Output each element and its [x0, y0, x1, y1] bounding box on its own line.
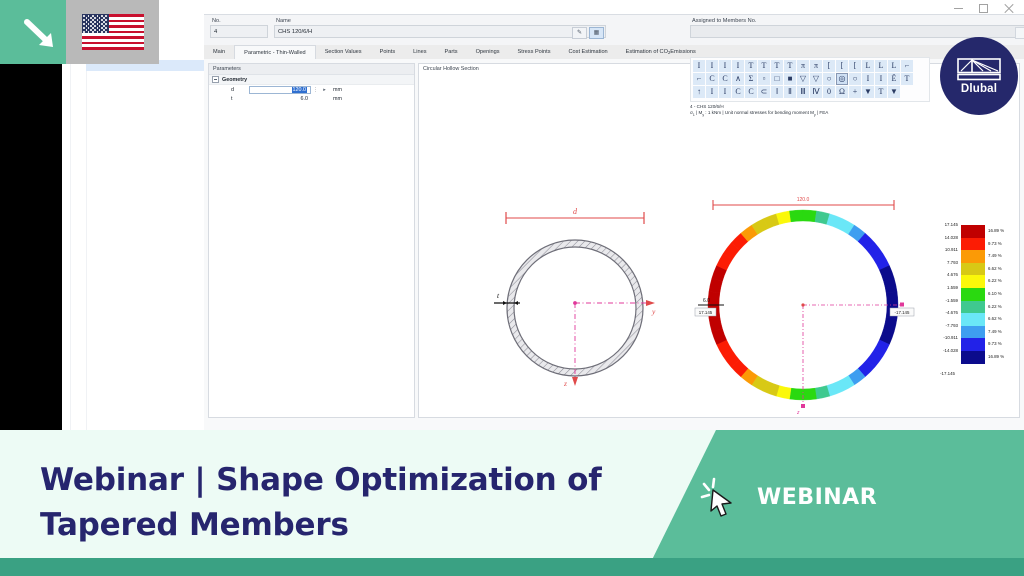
section-icon-circle-small[interactable]: ○ [849, 73, 861, 85]
section-icon-t-5[interactable]: T [901, 73, 913, 85]
tab-main[interactable]: Main [204, 45, 234, 59]
section-icon-rect-solid[interactable]: ■ [784, 73, 796, 85]
legend-value: 1.559 [924, 285, 961, 290]
flag-star [97, 27, 99, 29]
section-icon-c-4[interactable]: C [745, 86, 757, 98]
parameter-key-t: t [209, 96, 249, 102]
legend-swatch [961, 326, 985, 339]
section-name-label: Name [274, 18, 606, 25]
flag-star [105, 23, 107, 25]
left-black-bar [0, 64, 62, 434]
legend-percent: 16.89 % [988, 228, 1004, 233]
section-type-row-3: ↑ I I C C ⊂ Ⅰ Ⅱ Ⅲ Ⅳ 0 Ω + ▼ T ▼ [693, 86, 927, 98]
language-flag-tile[interactable] [66, 0, 159, 64]
section-name-value: CHS 120/6/H [278, 29, 312, 35]
stress-ring-segment [803, 388, 817, 400]
flag-star [92, 31, 94, 33]
dialog-header: No. 4 Name CHS 120/6/H ✎ ▦ Assigned to M… [204, 15, 1024, 45]
section-icon-z-2[interactable]: ⌐ [693, 73, 705, 85]
legend-value: 10.911 [924, 247, 961, 252]
section-icon-pi-2[interactable]: π [810, 60, 822, 72]
stress-ring-segment [789, 210, 803, 222]
section-icon-angle-3[interactable]: L [888, 60, 900, 72]
section-icon-t-2[interactable]: T [758, 60, 770, 72]
section-icon-angle-1[interactable]: L [862, 60, 874, 72]
parameter-row-t[interactable]: t 6.0 mm [209, 94, 414, 103]
tab-points[interactable]: Points [371, 45, 405, 59]
navigator-divider-1 [70, 16, 71, 434]
legend-value: -4.676 [924, 310, 961, 315]
flag-star [83, 23, 85, 25]
flag-star [86, 29, 88, 31]
parameter-unit-t: mm [329, 96, 342, 102]
flag-star [83, 27, 85, 29]
navigator-divider-2 [86, 16, 87, 434]
parameter-key-d: d [209, 87, 249, 93]
navigator-panel [62, 16, 205, 434]
legend-value: -1.559 [924, 298, 961, 303]
diagram-thickness-label: 6.0 [703, 298, 710, 304]
flag-star [86, 21, 88, 23]
section-icon-c-1[interactable]: C [706, 73, 718, 85]
parameter-value-d-text: 120.0 [292, 87, 308, 93]
banner-title: Webinar | Shape Optimization of Tapered … [40, 458, 640, 548]
tab-stress-points[interactable]: Stress Points [509, 45, 560, 59]
banner-title-line2: Tapered Members [40, 503, 640, 548]
diagram-max-stress-label: 17.145 [699, 310, 713, 315]
section-icon-trapezoid-2[interactable]: ▽ [810, 73, 822, 85]
stress-ring-segment [789, 388, 803, 400]
flag-stripe [82, 42, 144, 45]
section-icon-i-1[interactable]: I [693, 60, 705, 72]
section-icon-i-7[interactable]: I [706, 86, 718, 98]
section-icon-c-3[interactable]: C [732, 86, 744, 98]
section-icon-t-4[interactable]: T [784, 60, 796, 72]
section-type-toolbar: I I I I T T T T π π [ [ [ L L L ⌐ ⌐ C [690, 57, 930, 102]
arrow-down-right-icon [22, 18, 58, 50]
flag-star [97, 15, 99, 17]
section-icon-zero[interactable]: 0 [823, 86, 835, 98]
section-icon-c-5[interactable]: ⊂ [758, 86, 770, 98]
banner-webinar-badge: WEBINAR [757, 485, 877, 510]
flag-star [105, 15, 107, 17]
section-name-group: Name CHS 120/6/H ✎ ▦ [274, 18, 606, 38]
assigned-members-group: Assigned to Members No. [690, 18, 1024, 38]
legend-percent: 9.73 % [988, 241, 1002, 246]
section-icon-ii-2[interactable]: Ⅱ [784, 86, 796, 98]
collapse-icon[interactable] [212, 76, 219, 83]
result-caption: 4 - CHS 120/6/H σ1 | My : 1 kNm | Unit n… [690, 104, 828, 118]
flag-star [83, 31, 85, 33]
dlubal-logo: Dlubal [940, 37, 1018, 115]
legend-swatch [961, 250, 985, 263]
legend-value: -14.028 [924, 348, 961, 353]
rfem-section-window: No. 4 Name CHS 120/6/H ✎ ▦ Assigned to M… [62, 0, 1024, 434]
section-icon-tee-up[interactable]: ↑ [693, 86, 705, 98]
section-icon-angle-2[interactable]: L [875, 60, 887, 72]
section-icon-c-2[interactable]: C [719, 73, 731, 85]
section-icon-i-5[interactable]: I [862, 73, 874, 85]
legend-swatch [961, 351, 985, 364]
legend-value: 17.145 [924, 222, 961, 227]
axis-label-z: z [563, 379, 567, 388]
legend-percent: 6.62 % [988, 266, 1002, 271]
section-icon-sigma[interactable]: Σ [745, 73, 757, 85]
screenshot-root: No. 4 Name CHS 120/6/H ✎ ▦ Assigned to M… [0, 0, 1024, 576]
assigned-members-label: Assigned to Members No. [690, 18, 1024, 25]
section-no-input[interactable]: 4 [210, 25, 268, 38]
flag-stripe [82, 36, 144, 39]
legend-swatch [961, 288, 985, 301]
section-icon-double-i[interactable]: Ё [888, 73, 900, 85]
legend-value: 7.793 [924, 260, 961, 265]
section-icon-i-2[interactable]: I [706, 60, 718, 72]
flag-star [88, 31, 90, 33]
diagram-min-stress-label: -17.145 [895, 310, 910, 315]
click-cursor-icon [700, 476, 742, 518]
minimize-icon[interactable] [953, 3, 964, 14]
flag-star [97, 31, 99, 33]
section-icon-t-3[interactable]: T [771, 60, 783, 72]
section-icon-i-4[interactable]: I [732, 60, 744, 72]
legend-percent: 6.22 % [988, 304, 1002, 309]
legend-value: 4.676 [924, 272, 961, 277]
result-caption-line2: σ1 | My : 1 kNm | Unit normal stresses f… [690, 110, 828, 118]
legend-value: 14.028 [924, 235, 961, 240]
legend-percent: 6.62 % [988, 316, 1002, 321]
legend-swatch [961, 238, 985, 251]
section-icon-ii-1[interactable]: Ⅰ [771, 86, 783, 98]
section-icon-channel-3[interactable]: [ [849, 60, 861, 72]
flag-star [94, 21, 96, 23]
section-icon-ii-4[interactable]: Ⅳ [810, 86, 822, 98]
tab-openings[interactable]: Openings [467, 45, 509, 59]
tab-lines[interactable]: Lines [404, 45, 435, 59]
legend-row: -14.02816.89 % [924, 351, 1024, 364]
geometry-group-row[interactable]: Geometry [209, 75, 414, 85]
section-no-label: No. [210, 18, 268, 25]
legend-percent: 9.73 % [988, 341, 1002, 346]
edit-section-button[interactable]: ✎ [572, 27, 587, 39]
section-name-input[interactable]: CHS 120/6/H ✎ ▦ [274, 25, 606, 38]
section-icon-z-1[interactable]: ⌐ [901, 60, 913, 72]
legend-value: -10.911 [924, 335, 961, 340]
flag-canton [82, 14, 109, 33]
flag-star [97, 19, 99, 21]
axis-label-y: y [651, 307, 656, 316]
stress-ring-segment [886, 291, 898, 305]
section-icon-i-6[interactable]: I [875, 73, 887, 85]
banner-title-line1: Webinar | Shape Optimization of [40, 458, 640, 503]
section-type-row-2: ⌐ C C ∧ Σ ▫ □ ■ ▽ ▽ ○ ◎ ○ I I Ё T [693, 73, 927, 85]
section-icon-dropdown-1[interactable]: ▼ [862, 86, 874, 98]
flag-star [105, 31, 107, 33]
section-library-button[interactable]: ▦ [589, 27, 604, 39]
section-icon-rect-hollow[interactable]: □ [771, 73, 783, 85]
flag-star [83, 19, 85, 21]
section-icon-circular-hollow[interactable]: ◎ [836, 73, 848, 85]
parameter-value-d[interactable]: 120.0 [249, 86, 311, 94]
dimension-label-d: d [573, 207, 578, 216]
legend-swatch [961, 263, 985, 276]
section-name-buttons: ✎ ▦ [572, 27, 604, 39]
section-icon-plus[interactable]: + [849, 86, 861, 98]
flag-star [94, 17, 96, 19]
parameter-row-d[interactable]: d 120.0 ⋮ ▸ mm [209, 85, 414, 94]
tab-cost-estimation[interactable]: Cost Estimation [560, 45, 617, 59]
tab-section-values[interactable]: Section Values [316, 45, 371, 59]
section-icon-ii-3[interactable]: Ⅲ [797, 86, 809, 98]
flag-star [86, 17, 88, 19]
legend-percent: 16.89 % [988, 354, 1004, 359]
maximize-icon[interactable] [978, 3, 989, 14]
section-icon-pi-1[interactable]: π [797, 60, 809, 72]
parameters-header: Parameters [209, 64, 414, 75]
us-flag-icon [82, 14, 144, 50]
assigned-members-picker-button[interactable] [1015, 27, 1024, 39]
tab-parametric-thin-walled[interactable]: Parametric - Thin-Walled [234, 45, 316, 60]
assigned-members-input[interactable] [690, 25, 1024, 38]
flag-star [105, 27, 107, 29]
legend-percent: 7.49 % [988, 253, 1002, 258]
section-icon-channel-2[interactable]: [ [836, 60, 848, 72]
section-type-row-1: I I I I T T T T π π [ [ [ L L L ⌐ [693, 60, 927, 72]
dlubal-logo-text: Dlubal [961, 83, 997, 95]
section-icon-circle-solid[interactable]: ○ [823, 73, 835, 85]
section-icon-omega[interactable]: Ω [836, 86, 848, 98]
stress-legend: 17.14516.89 %14.0289.73 %10.9117.49 %7.7… [924, 225, 1024, 377]
legend-percent: 6.22 % [988, 278, 1002, 283]
expand-d-icon[interactable]: ▸ [320, 87, 329, 93]
section-icon-dropdown-2[interactable]: ▼ [888, 86, 900, 98]
spinner-d-icon[interactable]: ⋮ [311, 87, 320, 93]
parameters-pane: Parameters Geometry d 120.0 ⋮ ▸ mm [208, 63, 415, 418]
tab-parts[interactable]: Parts [436, 45, 467, 59]
geometry-group-label: Geometry [222, 77, 247, 83]
parameter-unit-d: mm [329, 87, 342, 93]
flag-star [83, 15, 85, 17]
flag-star [94, 29, 96, 31]
legend-percent: 6.10 % [988, 291, 1002, 296]
legend-value: -17.145 [924, 371, 958, 376]
bottom-banner: Webinar | Shape Optimization of Tapered … [0, 430, 1024, 576]
parameter-value-t[interactable]: 6.0 [249, 96, 311, 102]
flag-stripe [82, 47, 144, 50]
legend-swatch [961, 275, 985, 288]
section-icon-channel-1[interactable]: [ [823, 60, 835, 72]
section-icon-i-3[interactable]: I [719, 60, 731, 72]
legend-swatch [961, 338, 985, 351]
cross-section-drawing: d t y z [480, 190, 680, 405]
close-icon[interactable] [1003, 3, 1014, 14]
section-icon-hat[interactable]: ∧ [732, 73, 744, 85]
section-icon-square-small[interactable]: ▫ [758, 73, 770, 85]
flag-star [86, 25, 88, 27]
stress-ring-segment [803, 210, 817, 222]
dlubal-bridge-icon [956, 58, 1002, 82]
legend-percent: 7.49 % [988, 329, 1002, 334]
section-no-group: No. 4 [210, 18, 268, 38]
section-icon-i-8[interactable]: I [719, 86, 731, 98]
legend-value: -7.793 [924, 323, 961, 328]
stress-result-diagram: 120.0 z 6.0 17.145 -17.145 [684, 186, 934, 426]
legend-swatch [961, 225, 985, 238]
diagram-axis-z: z [796, 410, 800, 416]
flag-star [97, 23, 99, 25]
flag-star [94, 25, 96, 27]
legend-swatch [961, 301, 985, 314]
section-icon-trapezoid-1[interactable]: ▽ [797, 73, 809, 85]
banner-bottom-strip [0, 558, 1024, 576]
section-icon-t-1[interactable]: T [745, 60, 757, 72]
dimension-label-t: t [497, 291, 500, 300]
flag-star [105, 19, 107, 21]
section-icon-t-6[interactable]: T [875, 86, 887, 98]
flag-star [101, 31, 103, 33]
diagram-width-label: 120.0 [797, 197, 810, 203]
legend-swatch [961, 313, 985, 326]
